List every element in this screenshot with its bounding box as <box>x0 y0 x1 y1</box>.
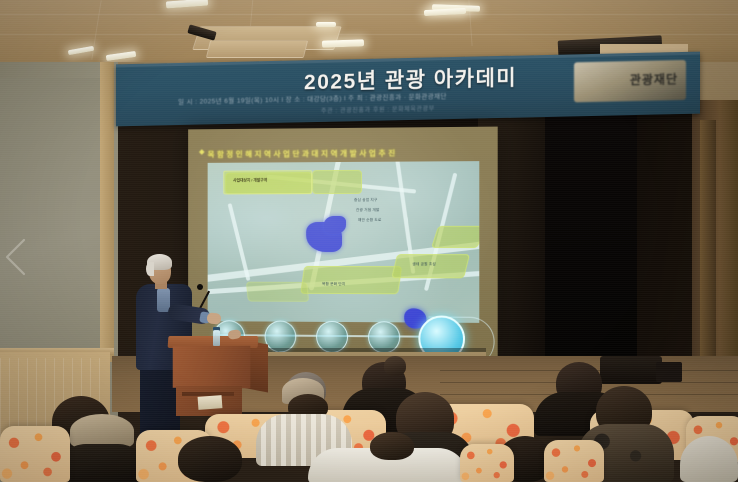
lecture-hall-photo: 2025년 관광 아카데미 일 시 : 2025년 6월 19일(목) 10시 … <box>0 0 738 482</box>
podium-body <box>173 346 251 389</box>
ceiling-light <box>316 22 336 27</box>
microphone-icon <box>197 284 203 290</box>
map-legend-label: 사업대상지 / 개발구역 <box>233 178 267 183</box>
podium-documents <box>198 395 223 410</box>
black-panel <box>545 112 637 362</box>
audience-head <box>178 436 242 482</box>
map-zone-green <box>246 282 309 302</box>
ceiling-seam <box>0 14 738 15</box>
slide-map: 사업대상지 / 개발구역 중심 상업 지구 관광 거점 개발 해안 순환 도로 … <box>208 161 480 323</box>
map-zone-green <box>312 170 362 194</box>
auditorium-seat <box>460 444 514 482</box>
slide-title: 목 함 정 인 해 지 역 사 업 단 과 대 지 역 개 발 사 업 추 진 <box>208 148 396 160</box>
map-label: 중심 상업 지구 <box>354 198 377 203</box>
audience-hat <box>70 414 134 448</box>
ceiling-seam <box>0 34 738 35</box>
auditorium-seat <box>544 440 604 482</box>
event-banner: 2025년 관광 아카데미 일 시 : 2025년 6월 19일(목) 10시 … <box>116 52 700 127</box>
map-label: 생태 공원 조성 <box>412 262 436 267</box>
ceiling-panel <box>206 40 308 58</box>
map-road <box>228 203 251 281</box>
speaker-hair <box>146 262 154 276</box>
banner-logo-text: 관광재단 <box>630 70 678 88</box>
left-wall-panel <box>0 78 105 353</box>
left-wall-trim-vertical <box>100 62 114 362</box>
speaker-hand <box>206 312 221 324</box>
av-equipment-small <box>656 362 682 382</box>
map-label: 복합 문화 단지 <box>322 282 345 287</box>
av-equipment <box>600 356 662 384</box>
map-zone-green <box>300 266 402 294</box>
map-zone-green <box>431 226 479 248</box>
chevron-left-icon[interactable] <box>2 236 32 278</box>
audience-head <box>370 432 414 460</box>
slide-title-bullet-icon <box>199 149 205 155</box>
map-label: 관광 거점 개발 <box>356 208 380 213</box>
auditorium-seat <box>0 426 70 482</box>
right-wall-trim <box>700 120 716 380</box>
ceiling-light <box>322 39 364 47</box>
map-label: 해안 순환 도로 <box>358 218 382 223</box>
water-bottle <box>213 330 220 346</box>
audience-head <box>384 356 406 376</box>
map-site-polygon <box>324 216 346 234</box>
projection-screen: 목 함 정 인 해 지 역 사 업 단 과 대 지 역 개 발 사 업 추 진 <box>188 127 498 358</box>
